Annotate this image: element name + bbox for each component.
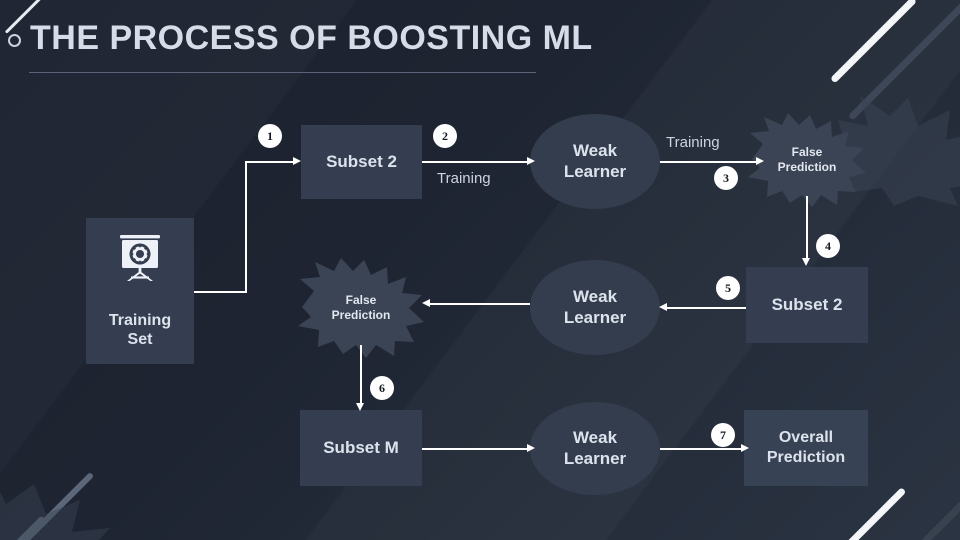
node-subset-mid[interactable]: Subset 2 (746, 267, 868, 343)
connector-trainingset-elbow-horizontal (194, 291, 247, 293)
node-subset-top-label: Subset 2 (326, 152, 397, 173)
node-false-prediction-mid-line2: Prediction (332, 308, 391, 323)
node-weak-learner-bottom-line2: Learner (564, 449, 626, 470)
node-weak-learner-top-line1: Weak (573, 141, 617, 162)
connector-trainingset-elbow-vertical (245, 161, 247, 292)
connector-subset-m-to-weak-learner-bottom (422, 448, 529, 450)
presentation-gear-icon (112, 230, 168, 286)
slide-canvas: THE PROCESS OF BOOSTING ML (0, 0, 960, 540)
arrowhead-to-subset-mid (802, 258, 810, 266)
connector-subset-mid-to-weak-learner-mid (664, 307, 746, 309)
connector-weak-learner-bottom-to-overall-prediction (660, 448, 744, 450)
node-overall-prediction-line2: Prediction (767, 448, 845, 468)
step-badge-1[interactable]: 1 (258, 124, 282, 148)
node-overall-prediction-line1: Overall (779, 428, 833, 448)
node-subset-mid-label: Subset 2 (772, 295, 843, 316)
slide-header: THE PROCESS OF BOOSTING ML (0, 0, 960, 90)
arrowhead-to-false-prediction-top (756, 157, 764, 165)
arrowhead-to-weak-learner-mid (659, 303, 667, 311)
title-divider (29, 72, 536, 73)
node-weak-learner-bottom-line1: Weak (573, 428, 617, 449)
node-false-prediction-top[interactable]: False Prediction (746, 113, 868, 207)
connector-false-prediction-mid-to-subset-m (360, 345, 362, 407)
node-training-set-line1: Training (109, 311, 171, 331)
node-subset-bottom[interactable]: Subset M (300, 410, 422, 486)
arrowhead-to-false-prediction-mid (422, 299, 430, 307)
arrowhead-to-subset-top (293, 157, 301, 165)
node-false-prediction-mid[interactable]: False Prediction (296, 258, 426, 358)
node-false-prediction-top-line2: Prediction (778, 160, 837, 175)
step-badge-7[interactable]: 7 (711, 423, 735, 447)
step-badge-4[interactable]: 4 (816, 234, 840, 258)
edge-label-training-1: Training (437, 170, 491, 187)
connector-subset-top-to-weak-learner (422, 161, 529, 163)
arrowhead-to-subset-m (356, 403, 364, 411)
page-title: THE PROCESS OF BOOSTING ML (30, 19, 593, 58)
arrowhead-to-overall-prediction (741, 444, 749, 452)
node-weak-learner-mid[interactable]: Weak Learner (530, 260, 660, 355)
node-training-set[interactable]: Training Set (86, 218, 194, 364)
step-badge-5[interactable]: 5 (716, 276, 740, 300)
step-badge-3[interactable]: 3 (714, 166, 738, 190)
node-subset-bottom-label: Subset M (323, 438, 399, 459)
circle-outline-icon (8, 34, 21, 47)
arrowhead-to-weak-learner-top (527, 157, 535, 165)
decorative-diagonal-bottom-right-light (817, 487, 907, 540)
node-weak-learner-bottom[interactable]: Weak Learner (530, 402, 660, 495)
step-badge-2[interactable]: 2 (433, 124, 457, 148)
node-weak-learner-mid-line1: Weak (573, 287, 617, 308)
decorative-burst-bottom-left (0, 470, 110, 540)
connector-trainingset-to-subset-top (245, 161, 293, 163)
node-false-prediction-mid-line1: False (332, 293, 391, 308)
node-false-prediction-top-line1: False (778, 145, 837, 160)
decorative-diagonal-bottom-right-dark (852, 475, 960, 540)
step-badge-6[interactable]: 6 (370, 376, 394, 400)
connector-weak-learner-top-to-false-prediction (660, 161, 759, 163)
node-weak-learner-top[interactable]: Weak Learner (530, 114, 660, 209)
node-subset-top[interactable]: Subset 2 (301, 125, 422, 199)
node-overall-prediction[interactable]: Overall Prediction (744, 410, 868, 486)
arrowhead-to-weak-learner-bottom (527, 444, 535, 452)
connector-false-prediction-top-to-subset-mid (806, 196, 808, 262)
node-training-set-line2: Set (128, 330, 153, 350)
connector-weak-learner-mid-to-false-prediction-mid (428, 303, 530, 305)
edge-label-training-2: Training (666, 134, 720, 151)
node-weak-learner-mid-line2: Learner (564, 308, 626, 329)
node-weak-learner-top-line2: Learner (564, 162, 626, 183)
